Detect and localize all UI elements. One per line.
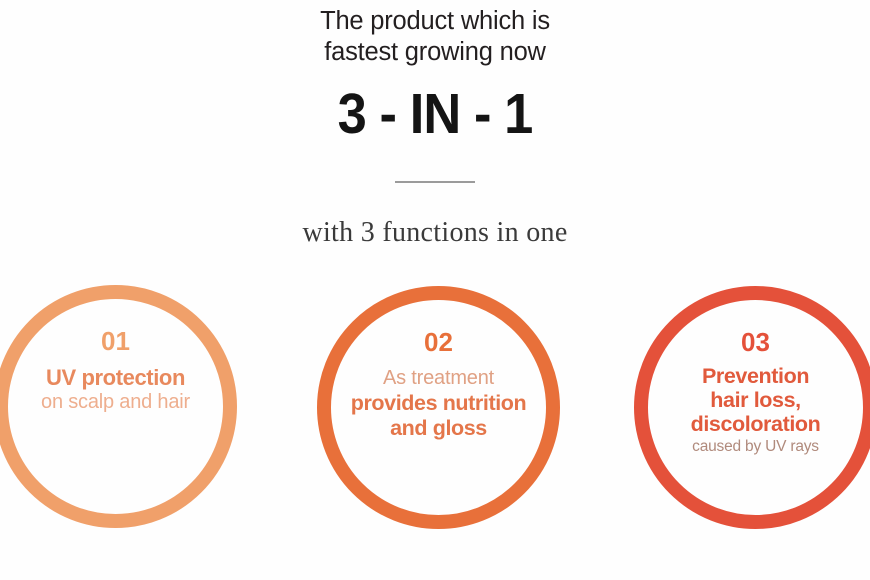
function-02-line-3: and gloss [323,416,555,441]
function-number-03: 03 [741,328,770,356]
function-text-03: Prevention hair loss, discoloration caus… [640,364,870,458]
page-title: 3 - IN - 1 [35,84,835,144]
function-number-02: 02 [424,328,453,356]
function-03-line-1: Prevention [640,364,870,388]
function-circle-01-content: 01 UV protection on scalp and hair [8,299,223,514]
infographic-canvas: The product which is fastest growing now… [0,0,870,580]
page-headline: The product which is fastest growing now [0,6,870,68]
title-divider [395,181,475,183]
function-03-line-4: caused by UV rays [640,436,870,458]
function-text-01: UV protection on scalp and hair [0,365,232,415]
function-circle-01: 01 UV protection on scalp and hair [0,285,237,528]
function-circle-03: 03 Prevention hair loss, discoloration c… [634,286,870,529]
function-circle-02-content: 02 As treatment provides nutrition and g… [331,300,546,515]
function-circle-02: 02 As treatment provides nutrition and g… [317,286,560,529]
headline-line-1: The product which is [0,6,870,37]
function-02-line-1: As treatment [323,366,555,391]
function-text-02: As treatment provides nutrition and glos… [323,366,555,441]
function-02-line-2: provides nutrition [323,391,555,416]
function-01-line-1: UV protection [0,365,232,390]
function-circle-03-content: 03 Prevention hair loss, discoloration c… [648,300,863,515]
function-03-line-2: hair loss, [640,388,870,412]
function-03-line-3: discoloration [640,412,870,436]
function-01-line-2: on scalp and hair [0,390,232,415]
page-subtitle: with 3 functions in one [0,216,870,250]
headline-line-2: fastest growing now [0,37,870,68]
function-number-01: 01 [101,327,130,355]
